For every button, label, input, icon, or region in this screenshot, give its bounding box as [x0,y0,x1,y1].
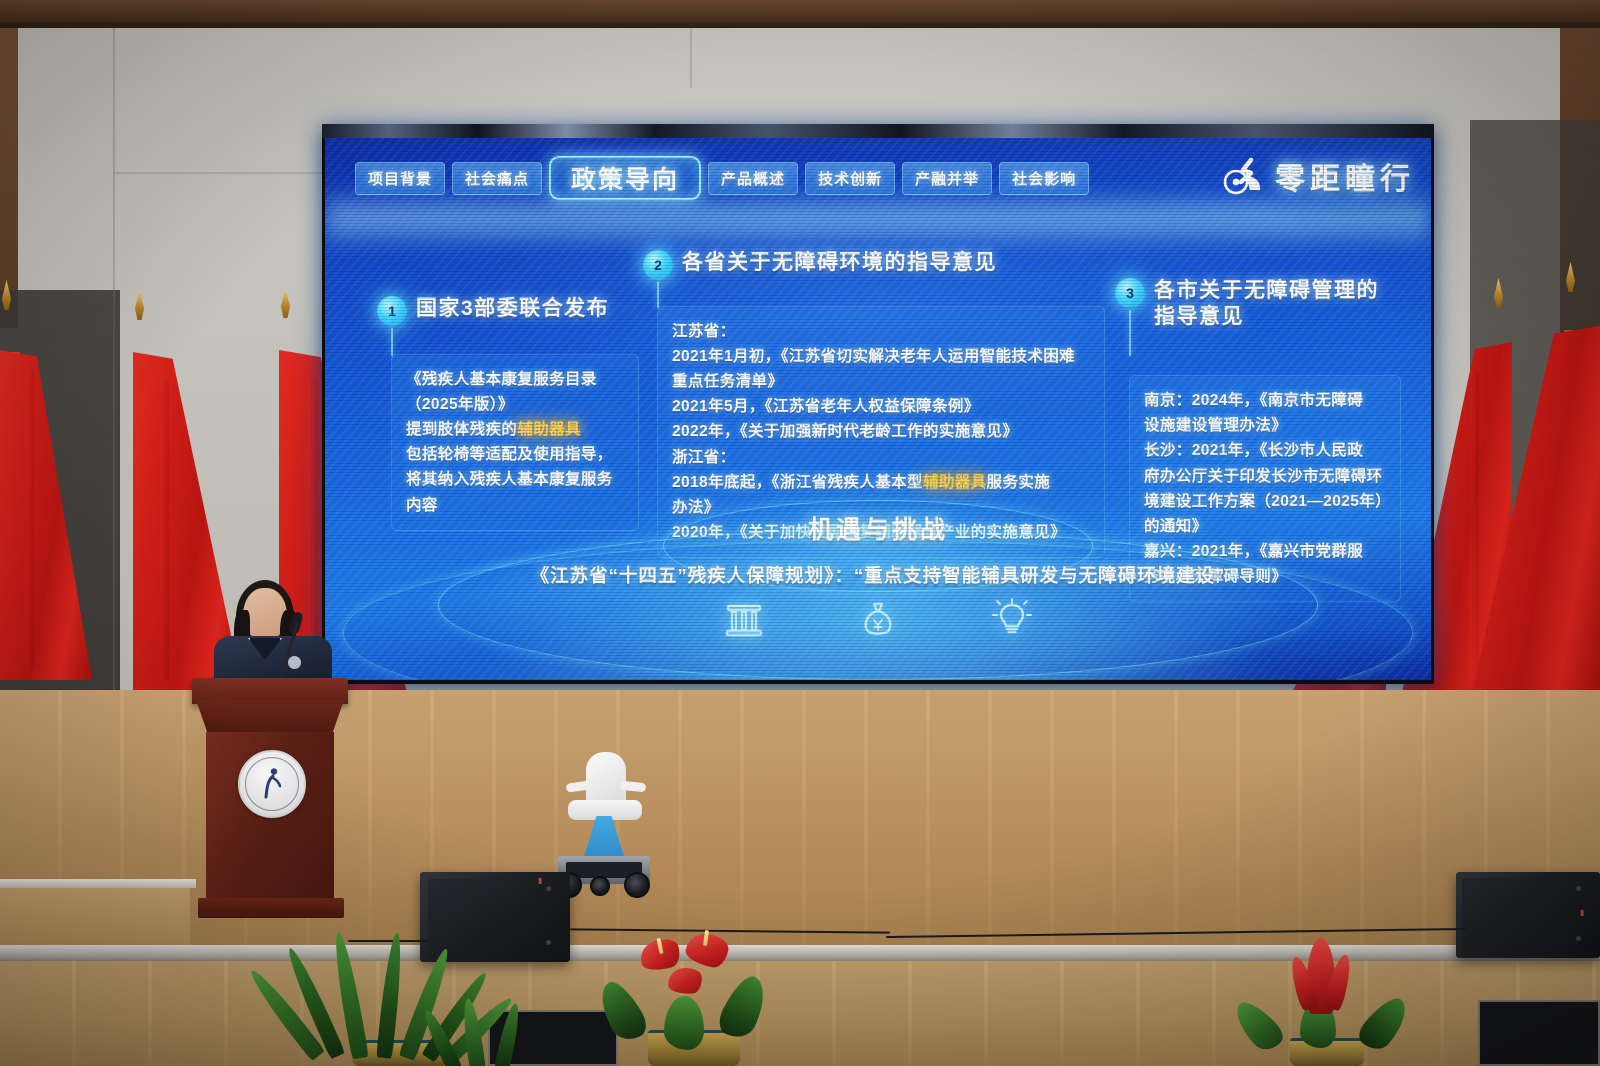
money-bag-yuan-icon [856,596,900,640]
screen-top-reflection [322,124,1434,138]
opportunity-title: 机遇与挑战 [808,510,948,546]
robot-wheel [624,872,650,898]
podium-emblem [238,750,306,818]
lightbulb-innovation-icon [990,596,1034,640]
wheelchair-logo-icon [1221,156,1267,196]
body-line: 2018年底起，《浙江省残疾人基本型辅助器具服务实施 [672,470,1090,495]
pa-speaker-left: ▮ [420,872,570,962]
brand-lockup: 零距瞳行 [1221,154,1415,198]
body-line: （2025年版）》 [406,392,624,417]
pa-speaker-grille [428,879,538,955]
body-line: 将其纳入残疾人基本康复服务 [406,467,624,492]
nav-tab-social-painpoints[interactable]: 社会痛点 [452,162,542,195]
emblem-ring [245,757,299,811]
stage-riser-left [0,885,190,951]
body-line: 《残疾人基本康复服务目录 [406,367,624,392]
body-line: 重点任务清单》 [672,369,1090,394]
pa-speaker-right: ▮ [1456,872,1600,958]
column-title: 国家3部委联合发布 [416,296,609,322]
slide-footer-stage: 机遇与挑战 《江苏省“十四五”残疾人保障规划》：“重点支持智能辅具研发与无障碍环… [325,496,1431,680]
highlight-term: 辅助器具 [923,474,987,491]
body-line: 浙江省： [672,445,1090,470]
body-text-tail: 服务实施 [987,474,1051,491]
body-text: 提到肢体残疾的 [406,421,517,438]
brand-name: 零距瞳行 [1275,154,1415,198]
column-title: 各市关于无障碍管理的指导意见 [1154,278,1398,329]
body-line: 包括轮椅等适配及使用指导， [406,442,624,467]
body-line: 2021年5月，《江苏省老年人权益保障条例》 [672,394,1090,419]
pa-screw [546,940,551,945]
body-line: 江苏省： [672,319,1090,344]
connector-line [391,328,393,356]
presentation-slide: 项目背景 社会痛点 政策导向 产品概述 技术创新 产融并举 社会影响 零距瞳行 [325,138,1431,680]
pa-screw [1576,886,1581,891]
nav-tab-product-overview[interactable]: 产品概述 [708,162,798,195]
body-line: 2021年1月初，《江苏省切实解决老年人运用智能技术困难 [672,344,1090,369]
government-building-icon [722,596,766,640]
nav-tab-industry-finance[interactable]: 产融并举 [902,162,992,195]
nav-tab-social-impact[interactable]: 社会影响 [999,162,1089,195]
robot-wheel [590,876,610,896]
step-badge-1: 1 [377,296,407,326]
pa-screw [1576,936,1581,941]
pa-speaker-grille [1462,878,1570,952]
column-header: 3 各市关于无障碍管理的指导意见 [1115,278,1405,329]
column-header: 1 国家3部委联合发布 [377,296,639,326]
pa-brand-label: ▮ [538,876,543,885]
body-line: 府办公厅关于印发长沙市无障碍环 [1144,464,1386,489]
stage-vent [1478,1000,1600,1066]
nav-tab-project-background[interactable]: 项目背景 [355,162,445,195]
step-badge-3: 3 [1115,278,1145,308]
body-line: 南京：2024年，《南京市无障碍 [1144,388,1386,413]
highlight-term: 辅助器具 [517,421,581,438]
stage-front-edge [0,945,1600,961]
body-line: 2022年，《关于加强新时代老龄工作的实施意见》 [672,419,1090,444]
body-line: 长沙：2021年，《长沙市人民政 [1144,438,1386,463]
podium-slope [196,700,344,734]
pa-screw [546,886,551,891]
connector-line [1129,310,1131,356]
policy-quote: 《江苏省“十四五”残疾人保障规划》：“重点支持智能辅具研发与无障碍环境建设” [531,562,1226,588]
connector-line [657,282,659,308]
floor-cable [348,940,428,942]
column-title: 各省关于无障碍环境的指导意见 [682,250,997,276]
stage-riser-left-edge [0,879,196,888]
wall-left-wood-trim [0,28,18,328]
slide-nav-bar: 项目背景 社会痛点 政策导向 产品概述 技术创新 产融并举 社会影响 [355,156,1089,200]
pa-brand-label: ▮ [1580,908,1585,917]
body-text: 2018年底起，《浙江省残疾人基本型 [672,474,923,491]
nav-tab-tech-innovation[interactable]: 技术创新 [805,162,895,195]
speaker-uniform-logo [288,656,301,669]
body-line: 设施建设管理办法》 [1144,413,1386,438]
nav-tab-policy-orientation[interactable]: 政策导向 [549,156,701,200]
body-line: 提到肢体残疾的辅助器具 [406,417,624,442]
wall-seam [113,28,115,718]
wall-seam [690,28,692,88]
footer-icon-row [722,596,1034,640]
column-header: 2 各省关于无障碍环境的指导意见 [643,250,1105,280]
conference-hall-scene: 项目背景 社会痛点 政策导向 产品概述 技术创新 产融并举 社会影响 零距瞳行 [0,0,1600,1066]
step-badge-2: 2 [643,250,673,280]
podium-base [198,898,344,918]
